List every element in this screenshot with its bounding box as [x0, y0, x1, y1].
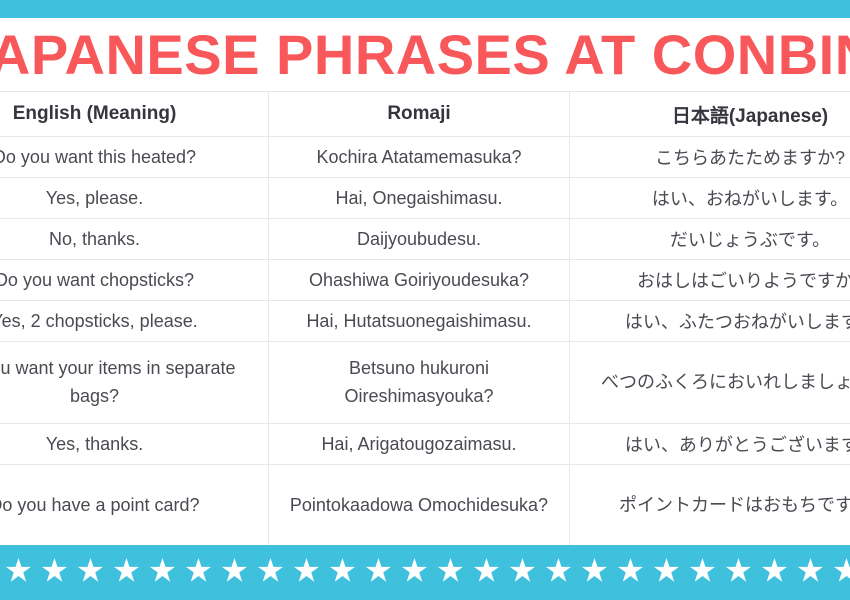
star-icon [150, 558, 175, 583]
phrase-table-container: English (Meaning) Romaji 日本語(Japanese) D… [0, 91, 850, 545]
table-row: No, thanks.Daijyoubudesu.だいじょうぶです。 [0, 219, 850, 260]
star-icon [690, 558, 715, 583]
star-row [6, 558, 850, 583]
star-icon [510, 558, 535, 583]
cell-english: Yes, 2 chopsticks, please. [0, 301, 269, 342]
table-row: Yes, please.Hai, Onegaishimasu.はい、おねがいしま… [0, 178, 850, 219]
star-icon [42, 558, 67, 583]
star-icon [258, 558, 283, 583]
cell-japanese: ポイントカードはおもちですか? [570, 465, 850, 546]
star-icon [114, 558, 139, 583]
column-header-japanese: 日本語(Japanese) [570, 92, 850, 137]
cell-japanese: はい、おねがいします。 [570, 178, 850, 219]
star-icon [366, 558, 391, 583]
column-header-english: English (Meaning) [0, 92, 269, 137]
cell-english: Do you want your items in separate bags? [0, 342, 269, 424]
cell-romaji: Hai, Hutatsuonegaishimasu. [269, 301, 570, 342]
cell-romaji: Betsuno hukuroni Oireshimasyouka? [269, 342, 570, 424]
star-icon [726, 558, 751, 583]
cell-english: Do you want chopsticks? [0, 260, 269, 301]
cell-english: Do you want this heated? [0, 137, 269, 178]
star-icon [294, 558, 319, 583]
star-icon [438, 558, 463, 583]
star-icon [654, 558, 679, 583]
infographic-poster: JAPANESE PHRASES AT CONBINI English (Mea… [0, 0, 850, 600]
table-row: Do you want your items in separate bags?… [0, 342, 850, 424]
star-icon [474, 558, 499, 583]
table-body: Do you want this heated?Kochira Atatamem… [0, 137, 850, 546]
star-icon [6, 558, 31, 583]
cell-japanese: はい、ふたつおねがいします。 [570, 301, 850, 342]
cell-romaji: Kochira Atatamemasuka? [269, 137, 570, 178]
cell-romaji: Hai, Onegaishimasu. [269, 178, 570, 219]
top-accent-band [0, 0, 850, 18]
star-icon [330, 558, 355, 583]
star-icon [834, 558, 850, 583]
cell-romaji: Pointokaadowa Omochidesuka? [269, 465, 570, 546]
phrase-table: English (Meaning) Romaji 日本語(Japanese) D… [0, 91, 850, 545]
star-icon [582, 558, 607, 583]
table-row: Do you have a point card?Pointokaadowa O… [0, 465, 850, 546]
column-header-romaji: Romaji [269, 92, 570, 137]
table-row: Do you want this heated?Kochira Atatamem… [0, 137, 850, 178]
cell-japanese: べつのふくろにおいれしましょうか? [570, 342, 850, 424]
cell-english: Do you have a point card? [0, 465, 269, 546]
page-title: JAPANESE PHRASES AT CONBINI [0, 27, 850, 83]
star-icon [798, 558, 823, 583]
cell-japanese: おはしはごいりようですか? [570, 260, 850, 301]
table-row: Do you want chopsticks?Ohashiwa Goiriyou… [0, 260, 850, 301]
cell-romaji: Hai, Arigatougozaimasu. [269, 424, 570, 465]
cell-japanese: だいじょうぶです。 [570, 219, 850, 260]
star-icon [762, 558, 787, 583]
cell-japanese: はい、ありがとうございます。 [570, 424, 850, 465]
cell-japanese: こちらあたためますか? [570, 137, 850, 178]
star-icon [546, 558, 571, 583]
cell-english: No, thanks. [0, 219, 269, 260]
star-icon [78, 558, 103, 583]
star-icon [402, 558, 427, 583]
table-row: Yes, thanks.Hai, Arigatougozaimasu.はい、あり… [0, 424, 850, 465]
star-icon [186, 558, 211, 583]
footer-star-band [0, 545, 850, 600]
cell-english: Yes, thanks. [0, 424, 269, 465]
table-header-row: English (Meaning) Romaji 日本語(Japanese) [0, 92, 850, 137]
cell-romaji: Ohashiwa Goiriyoudesuka? [269, 260, 570, 301]
cell-english: Yes, please. [0, 178, 269, 219]
star-icon [222, 558, 247, 583]
cell-romaji: Daijyoubudesu. [269, 219, 570, 260]
star-icon [618, 558, 643, 583]
title-area: JAPANESE PHRASES AT CONBINI [0, 18, 850, 91]
table-row: Yes, 2 chopsticks, please.Hai, Hutatsuon… [0, 301, 850, 342]
